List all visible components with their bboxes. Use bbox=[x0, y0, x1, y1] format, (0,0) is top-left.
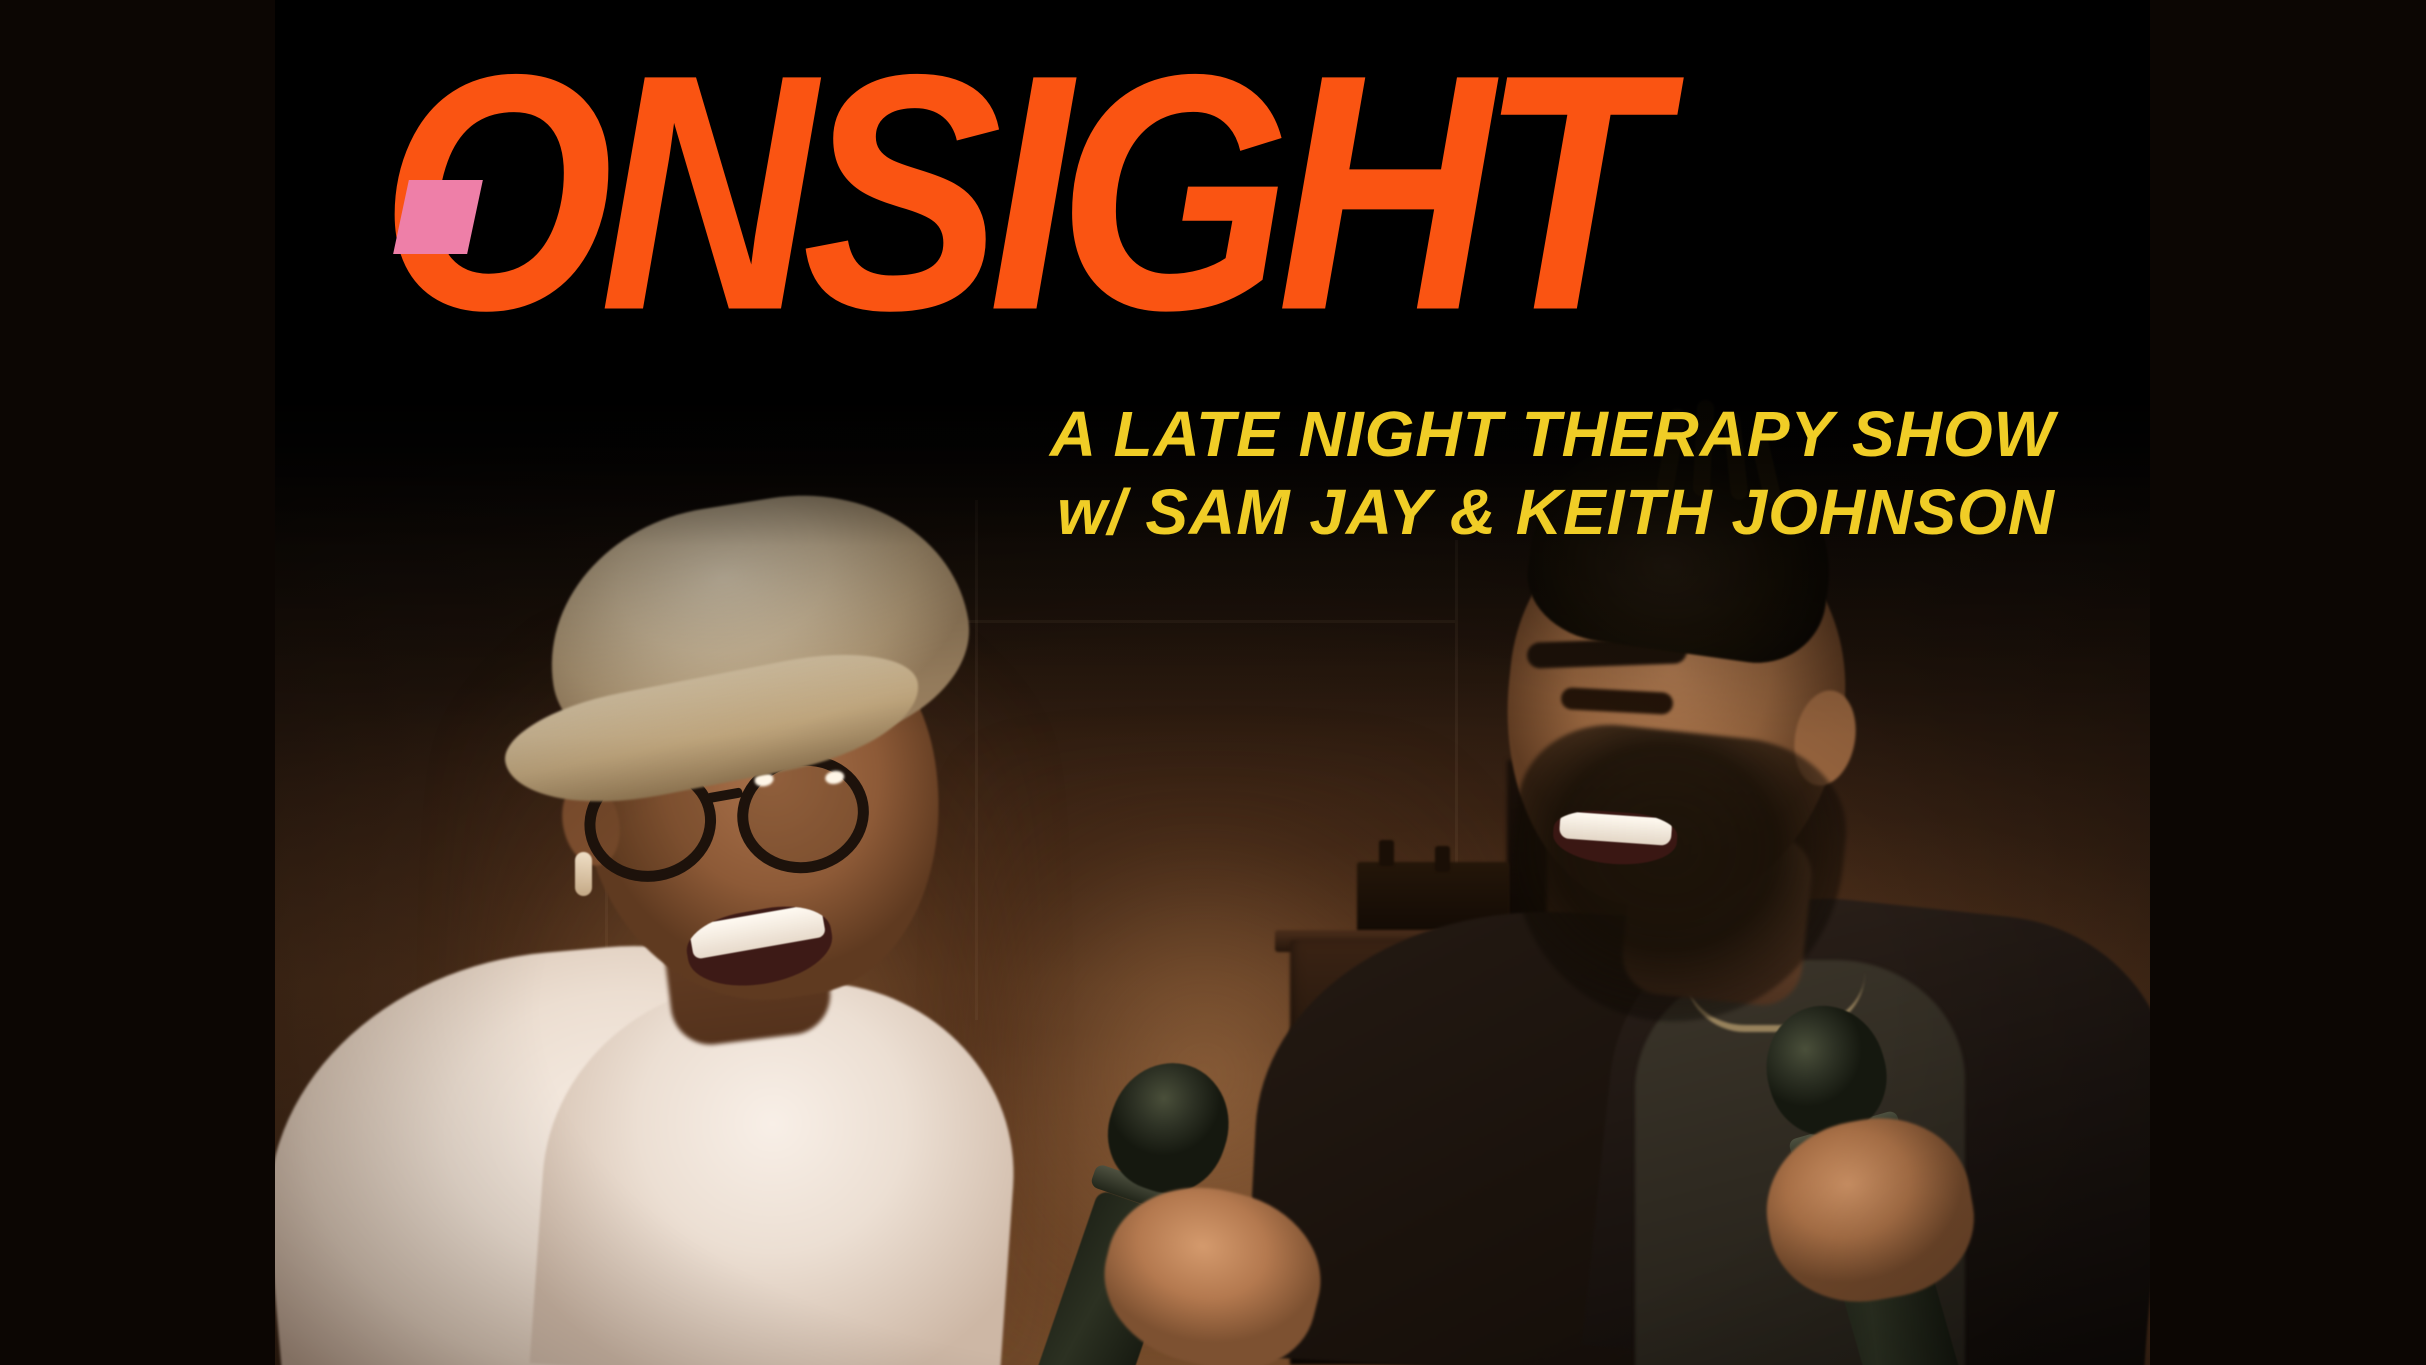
host-keith-johnson bbox=[1275, 360, 2150, 1365]
video-player-stage: ONSIGHT A LATE NIGHT THERAPY SHOW w/ SAM… bbox=[0, 0, 2426, 1365]
scene-photo bbox=[275, 0, 2150, 1365]
letterbox-bar-right bbox=[2150, 0, 2426, 1365]
host-sam-jay bbox=[275, 480, 1075, 1365]
letterbox-bar-left bbox=[0, 0, 275, 1365]
poster-frame[interactable]: ONSIGHT A LATE NIGHT THERAPY SHOW w/ SAM… bbox=[275, 0, 2150, 1365]
sam-jay-earring bbox=[575, 852, 592, 896]
